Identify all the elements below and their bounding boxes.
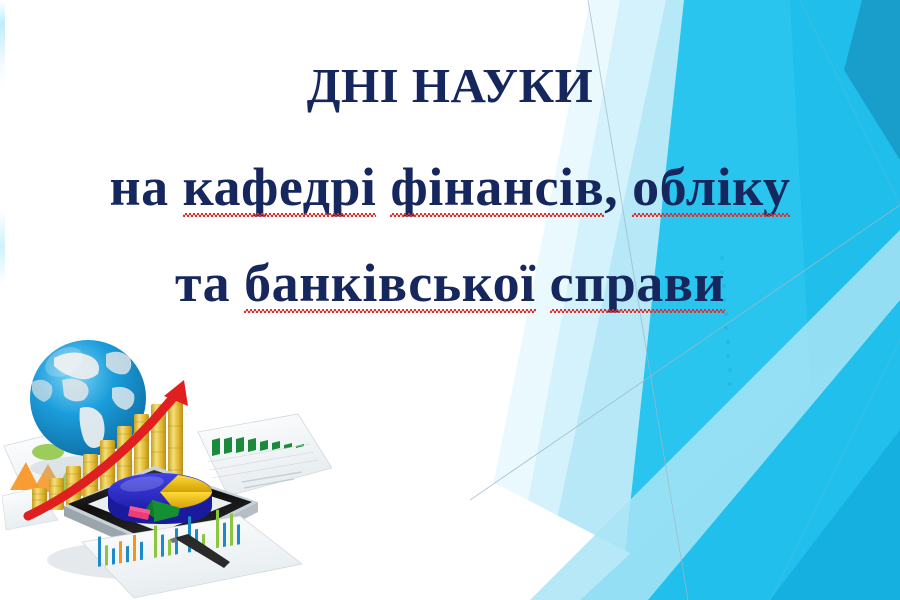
pie-chart-3d	[108, 473, 212, 524]
title-comma-1: ,	[604, 157, 632, 217]
page-title-line-2: на кафедрі фінансів, обліку	[0, 156, 900, 218]
title-word-obliku: обліку	[632, 156, 790, 218]
decor-shape-lower-cyan-mass	[580, 305, 900, 600]
title-word-kafedri: кафедрі	[183, 156, 377, 218]
business-analytics-illustration	[2, 310, 332, 600]
title-line-1-text: ДНІ НАУКИ	[307, 58, 593, 113]
title-space-2	[536, 253, 550, 313]
title-word-finansiv: фінансів	[390, 156, 604, 218]
decor-hairline-1	[470, 205, 900, 500]
paper-green-bar-chart	[198, 414, 332, 496]
title-word-ta: та	[175, 253, 244, 313]
decor-shape-lower-right-deep	[770, 430, 900, 600]
presentation-slide: ДНІ НАУКИ на кафедрі фінансів, обліку та…	[0, 0, 900, 600]
decor-shape-lower-white-triangle	[470, 470, 720, 600]
title-space-1	[376, 157, 390, 217]
page-title-line-1: ДНІ НАУКИ	[0, 58, 900, 114]
title-word-bankivskoi: банківської	[244, 252, 535, 314]
title-word-na: на	[110, 157, 183, 217]
page-title-line-3: та банківської справи	[0, 252, 900, 314]
decor-hairline-4	[770, 340, 900, 600]
title-word-spravy: справи	[550, 252, 725, 314]
